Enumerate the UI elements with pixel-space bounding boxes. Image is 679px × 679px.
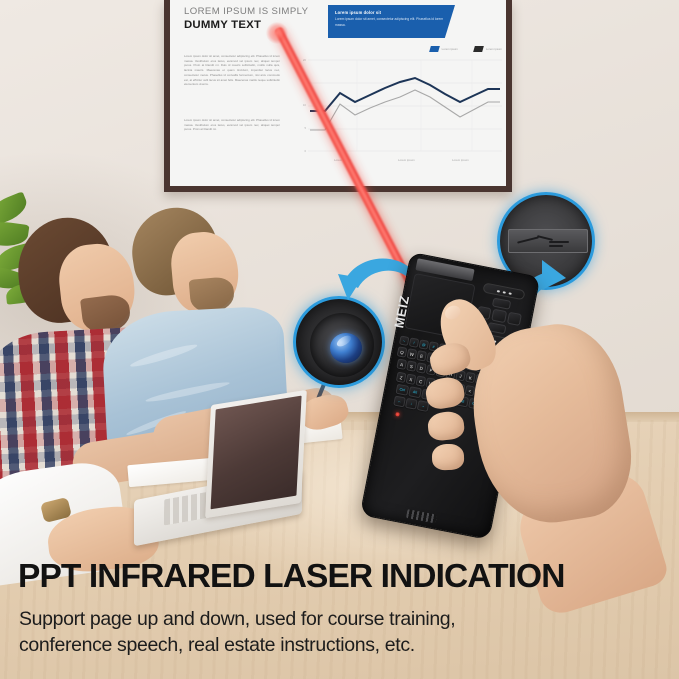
little-finger bbox=[432, 443, 465, 470]
chart-legend: Lorem ipsum Lorem ipsum bbox=[430, 46, 502, 52]
middle-finger bbox=[424, 375, 467, 411]
slide-callout-banner: Lorem ipsum dolor sit Lorem ipsum dolor … bbox=[328, 5, 455, 38]
port-slot bbox=[508, 229, 588, 253]
slide-title-line-1: LOREM IPSUM IS SIMPLY bbox=[184, 6, 308, 17]
laptop-lid bbox=[205, 390, 307, 518]
lens-barrel bbox=[310, 313, 374, 377]
headline: PPT INFRARED LASER INDICATION bbox=[18, 560, 679, 594]
chart-plot-area bbox=[294, 58, 506, 154]
slide-paragraph-1: Lorem ipsum dolor sit amet, consectetur … bbox=[184, 54, 280, 87]
chart-xtick: Lorem ipsum bbox=[398, 158, 415, 162]
banner-body: Lorem ipsum dolor sit amet, consectetur … bbox=[335, 17, 448, 27]
key-ctrl[interactable]: Ctrl bbox=[395, 384, 409, 396]
legend-swatch-series-1 bbox=[429, 46, 440, 52]
thumbnail bbox=[443, 303, 463, 322]
hand-holding-device bbox=[430, 292, 679, 580]
slide: LOREM IPSUM IS SIMPLY DUMMY TEXT Lorem i… bbox=[170, 0, 506, 186]
legend-item: Lorem ipsum bbox=[430, 46, 458, 52]
slide-paragraph-2: Lorem ipsum dolor sit amet, consectetur … bbox=[184, 118, 280, 132]
slide-title-line-2: DUMMY TEXT bbox=[184, 19, 308, 31]
ring-finger bbox=[427, 410, 466, 442]
key[interactable]: ~ bbox=[399, 335, 410, 346]
subline-1: Support page up and down, used for cours… bbox=[19, 606, 679, 633]
banner-title: Lorem ipsum dolor sit bbox=[335, 10, 448, 15]
key[interactable]: @ bbox=[419, 339, 430, 350]
key-alt[interactable]: Alt bbox=[408, 386, 422, 398]
slide-title: LOREM IPSUM IS SIMPLY DUMMY TEXT bbox=[184, 6, 308, 31]
legend-item: Lorem ipsum bbox=[474, 46, 502, 52]
laser-dot-on-slide bbox=[266, 22, 288, 44]
chart-svg bbox=[294, 58, 506, 154]
key[interactable]: ! bbox=[409, 337, 420, 348]
subline-2: conference speech, real estate instructi… bbox=[19, 632, 679, 659]
key-arrow-left[interactable]: ← bbox=[393, 396, 406, 408]
laptop-display bbox=[211, 396, 302, 510]
legend-swatch-series-2 bbox=[473, 46, 484, 52]
projection-screen: LOREM IPSUM IS SIMPLY DUMMY TEXT Lorem i… bbox=[164, 0, 512, 192]
marketing-text-block: PPT INFRARED LASER INDICATION Support pa… bbox=[0, 560, 679, 659]
laptop bbox=[128, 398, 318, 538]
chart-xtick: Lorem ipsum bbox=[452, 158, 469, 162]
legend-label-series-2: Lorem ipsum bbox=[486, 47, 502, 51]
power-led-indicator bbox=[395, 412, 399, 416]
key-arrow-down[interactable]: ↓ bbox=[405, 398, 418, 410]
chart-vertical-gridlines bbox=[357, 60, 472, 151]
marketing-image: LOREM IPSUM IS SIMPLY DUMMY TEXT Lorem i… bbox=[0, 0, 679, 679]
legend-label-series-1: Lorem ipsum bbox=[442, 47, 458, 51]
